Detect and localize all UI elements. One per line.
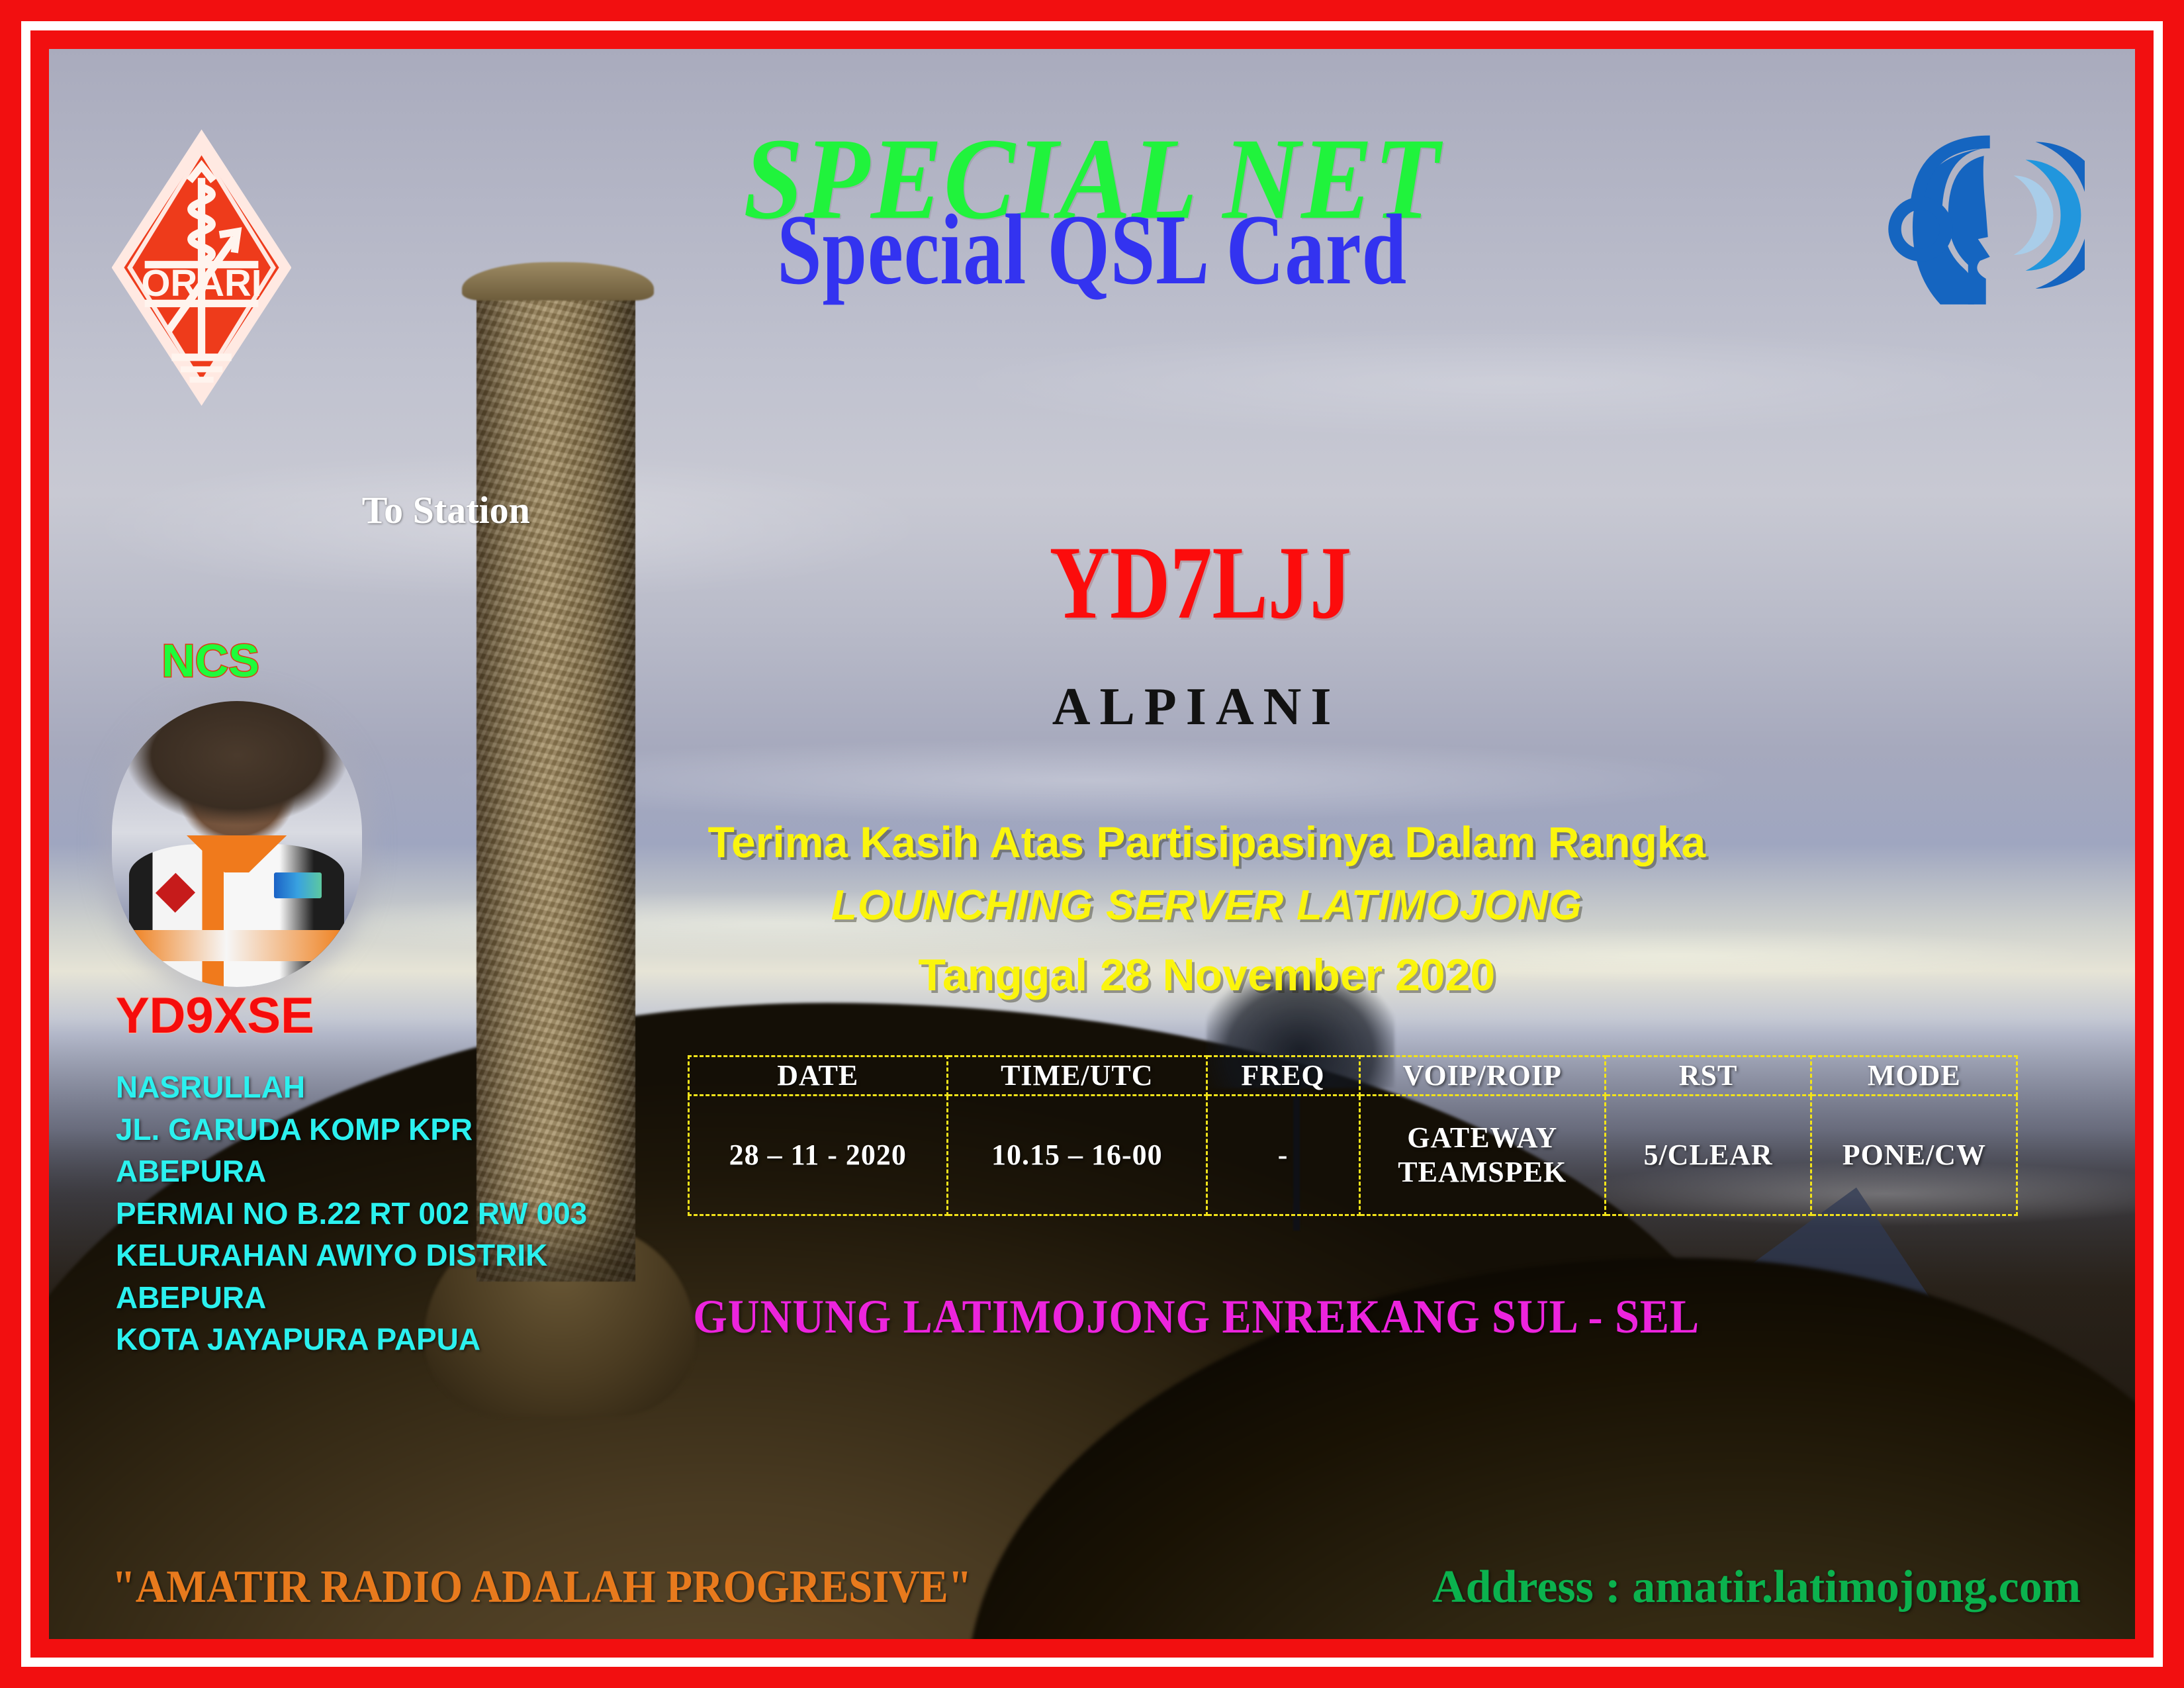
- table-header-row: DATE TIME/UTC FREQ VOIP/ROIP RST MODE: [688, 1056, 2017, 1096]
- event-name-line: LOUNCHING SERVER LATIMOJONG: [163, 880, 2135, 929]
- operator-sash: [132, 930, 342, 962]
- page-subtitle-special-qsl-card: Special QSL Card: [257, 192, 1927, 307]
- column-header-rst: RST: [1605, 1056, 1811, 1096]
- footer-website-address: Address : amatir.latimojong.com: [1432, 1561, 2081, 1614]
- location-caption: GUNUNG LATIMOJONG ENREKANG SUL - SEL: [237, 1289, 2135, 1344]
- cell-voip-roip: GATEWAY TEAMSPEK: [1359, 1096, 1605, 1215]
- address-line: NASRULLAH: [116, 1066, 587, 1108]
- footer-slogan: "AMATIR RADIO ADALAH PROGRESIVE": [112, 1561, 972, 1614]
- recipient-callsign: YD7LJJ: [366, 523, 2035, 643]
- cell-time-utc: 10.15 – 16-00: [948, 1096, 1207, 1215]
- column-header-mode: MODE: [1811, 1056, 2017, 1096]
- orari-logo-text: ORARI: [141, 262, 261, 304]
- cell-freq: -: [1206, 1096, 1359, 1215]
- table-row: 28 – 11 - 2020 10.15 – 16-00 - GATEWAY T…: [688, 1096, 2017, 1215]
- recipient-operator-name: ALPIANI: [154, 677, 2135, 737]
- operator-chest-emblem: [274, 872, 322, 898]
- cell-mode: PONE/CW: [1811, 1096, 2017, 1215]
- column-header-freq: FREQ: [1206, 1056, 1359, 1096]
- address-line: JL. GARUDA KOMP KPR: [116, 1109, 587, 1150]
- column-header-date: DATE: [688, 1056, 948, 1096]
- ncs-callsign: YD9XSE: [116, 987, 314, 1045]
- column-header-voip-roip: VOIP/ROIP: [1359, 1056, 1605, 1096]
- cell-date: 28 – 11 - 2020: [688, 1096, 948, 1215]
- cell-voip-roip-line1: GATEWAY: [1407, 1121, 1557, 1154]
- address-line: ABEPURA: [116, 1150, 587, 1192]
- event-date-line: Tanggal 28 November 2020: [163, 949, 2135, 1001]
- background-photo-mountain-summit: ORARI SPECIAL NET Special QSL Card: [49, 49, 2135, 1639]
- cell-voip-roip-line2: TEAMSPEK: [1398, 1156, 1567, 1188]
- address-line: PERMAI NO B.22 RT 002 RW 003: [116, 1193, 587, 1235]
- qsl-card: ORARI SPECIAL NET Special QSL Card: [0, 0, 2184, 1688]
- qso-log-table: DATE TIME/UTC FREQ VOIP/ROIP RST MODE 28…: [688, 1055, 2019, 1216]
- cell-rst: 5/CLEAR: [1605, 1096, 1811, 1215]
- card-content-overlay: ORARI SPECIAL NET Special QSL Card: [49, 49, 2135, 1639]
- address-line: KELURAHAN AWIYO DISTRIK: [116, 1235, 587, 1276]
- ncs-label: NCS: [161, 634, 259, 687]
- column-header-time-utc: TIME/UTC: [948, 1056, 1207, 1096]
- thanks-message-line-1: Terima Kasih Atas Partisipasinya Dalam R…: [163, 817, 2135, 867]
- ncs-operator-photo: [112, 701, 362, 987]
